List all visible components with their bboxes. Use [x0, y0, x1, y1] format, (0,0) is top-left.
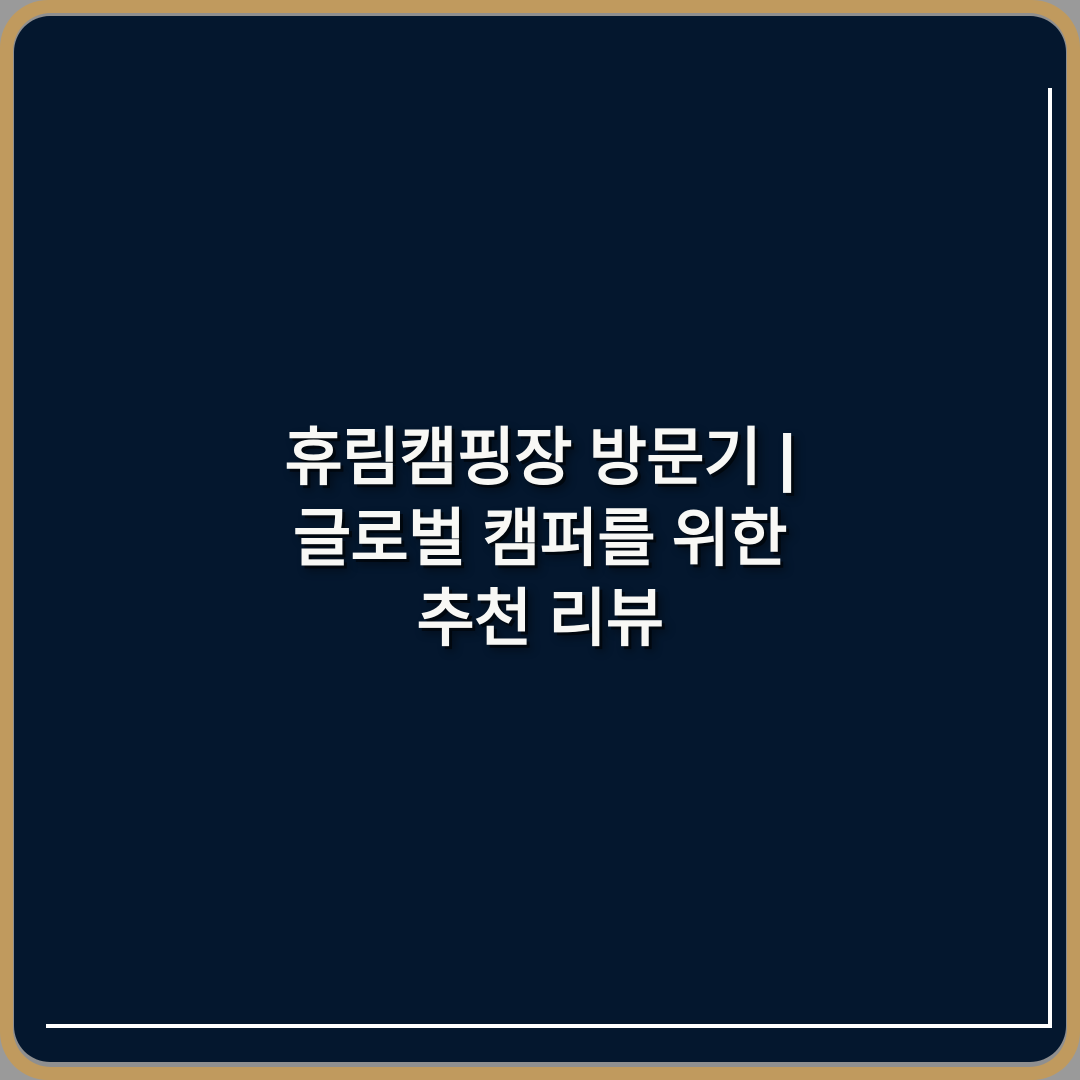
card-inner-panel: 휴림캠핑장 방문기 | 글로벌 캠퍼를 위한 추천 리뷰 — [14, 16, 1066, 1062]
title-line-1: 휴림캠핑장 방문기 | — [285, 423, 796, 493]
title-line-2: 글로벌 캠퍼를 위한 — [293, 504, 787, 574]
page-title: 휴림캠핑장 방문기 | 글로벌 캠퍼를 위한 추천 리뷰 — [285, 418, 796, 660]
title-card: 휴림캠핑장 방문기 | 글로벌 캠퍼를 위한 추천 리뷰 — [0, 0, 1080, 1080]
title-container: 휴림캠핑장 방문기 | 글로벌 캠퍼를 위한 추천 리뷰 — [14, 16, 1066, 1062]
title-line-3: 추천 리뷰 — [417, 584, 664, 654]
